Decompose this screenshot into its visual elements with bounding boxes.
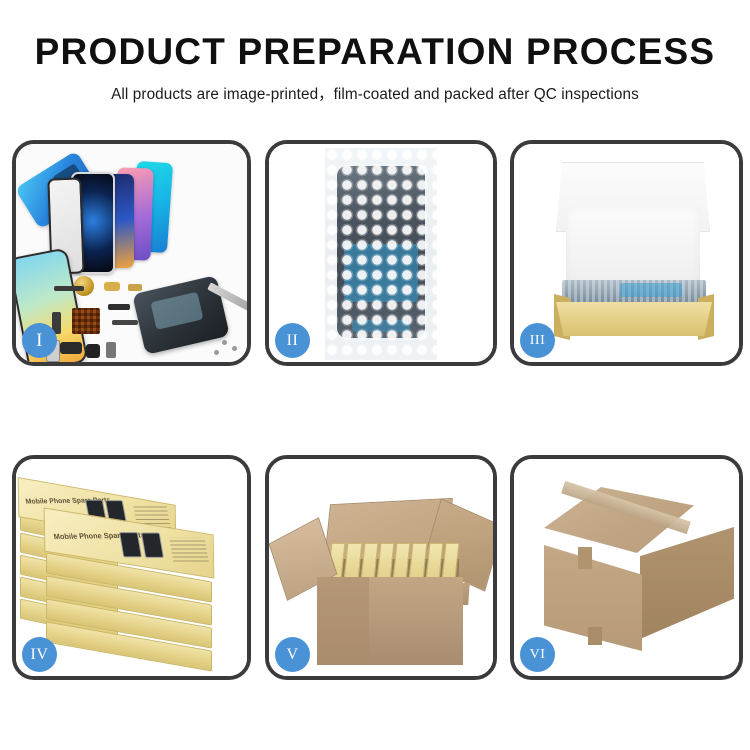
foam-padding-icon xyxy=(566,206,700,284)
step-panel-3: III xyxy=(510,140,743,366)
step-panel-5: V xyxy=(265,455,497,680)
screw-icon xyxy=(222,340,227,345)
step-panel-6: VI xyxy=(510,455,743,680)
carton-seam-icon xyxy=(588,627,602,645)
step-badge-1: I xyxy=(22,323,57,358)
carton-seam-icon xyxy=(578,547,592,569)
step-badge-3: III xyxy=(520,323,555,358)
process-step-grid: I II III xyxy=(0,0,750,750)
step-panel-4: Mobile Phone Spare Parts Mobile Phone Sp… xyxy=(12,455,251,680)
step-badge-2: II xyxy=(275,323,310,358)
bubble-wrap-texture-icon xyxy=(325,148,437,360)
flex-cable-icon xyxy=(54,286,84,291)
screw-icon xyxy=(232,346,237,351)
step-badge-6: VI xyxy=(520,637,555,672)
gold-clip-icon xyxy=(128,284,142,291)
box-product-photo xyxy=(141,533,164,558)
step-badge-4: IV xyxy=(22,637,57,672)
step-badge-5: V xyxy=(275,637,310,672)
antenna-cable-icon xyxy=(112,320,138,325)
vibrator-module-icon xyxy=(86,344,100,358)
box-spec-lines xyxy=(169,537,209,561)
screw-icon xyxy=(214,350,219,355)
yellow-box-base-icon xyxy=(556,302,712,336)
gold-contact-icon xyxy=(104,282,120,291)
carton-left-face-icon xyxy=(317,577,369,665)
step-panel-1: I xyxy=(12,140,251,366)
camera-module-icon xyxy=(60,342,82,354)
step-panel-2: II xyxy=(265,140,497,366)
button-component-icon xyxy=(106,342,116,358)
ribbon-cable-icon xyxy=(108,304,130,310)
connector-grid-icon xyxy=(72,308,100,334)
